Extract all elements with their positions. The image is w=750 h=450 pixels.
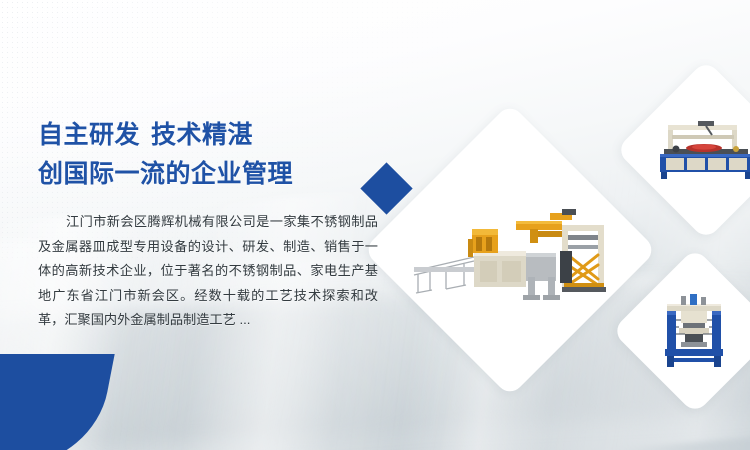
copy-block: 自主研发技术精湛 创国际一流的企业管理 江门市新会区腾辉机械有限公司是一家集不锈… <box>38 116 390 346</box>
headline-line-1-part-2: 技术精湛 <box>151 121 253 149</box>
main-machine-panel <box>363 103 657 397</box>
headline-line-1-part-1: 自主研发 <box>38 121 140 149</box>
company-profile-banner: 自主研发技术精湛 创国际一流的企业管理 江门市新会区腾辉机械有限公司是一家集不锈… <box>0 0 750 450</box>
top-machine-panel-inner <box>642 86 750 214</box>
production-line-machine-image <box>410 195 610 305</box>
hydraulic-press-machine-image <box>659 294 731 368</box>
company-description-paragraph: 江门市新会区腾辉机械有限公司是一家集不锈钢制品及金属器皿成型专用设备的设计、研发… <box>38 210 378 333</box>
bottom-machine-panel-inner <box>636 272 750 390</box>
headline-line-2: 创国际一流的企业管理 <box>38 155 390 194</box>
headline-line-1: 自主研发技术精湛 <box>38 116 390 155</box>
main-machine-panel-inner <box>406 146 614 354</box>
polishing-machine-image <box>654 119 750 181</box>
